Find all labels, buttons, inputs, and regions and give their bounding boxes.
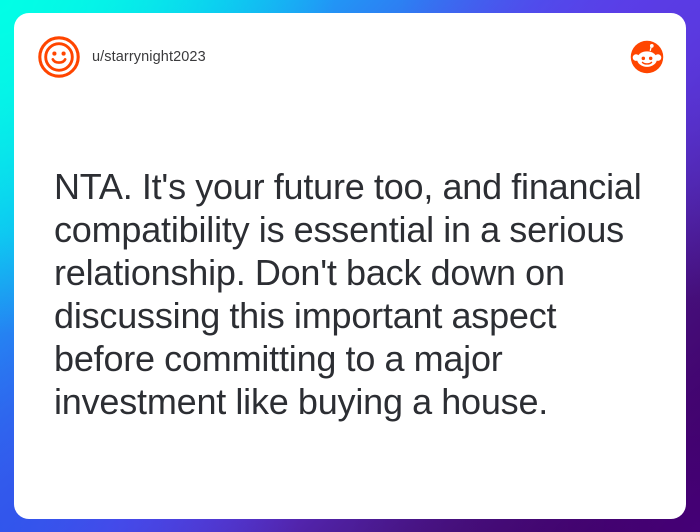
card-header: u/starrynight2023 bbox=[14, 13, 686, 101]
gradient-background: u/starrynight2023 N bbox=[0, 0, 700, 532]
card-body: NTA. It's your future too, and financial… bbox=[54, 165, 660, 423]
reddit-comment-card: u/starrynight2023 N bbox=[14, 13, 686, 519]
author-group[interactable]: u/starrynight2023 bbox=[37, 35, 206, 79]
reddit-snoo-logo-icon[interactable] bbox=[630, 40, 664, 74]
comment-text: NTA. It's your future too, and financial… bbox=[54, 165, 660, 423]
author-username: u/starrynight2023 bbox=[92, 49, 206, 65]
smiley-face-avatar-icon[interactable] bbox=[37, 35, 81, 79]
